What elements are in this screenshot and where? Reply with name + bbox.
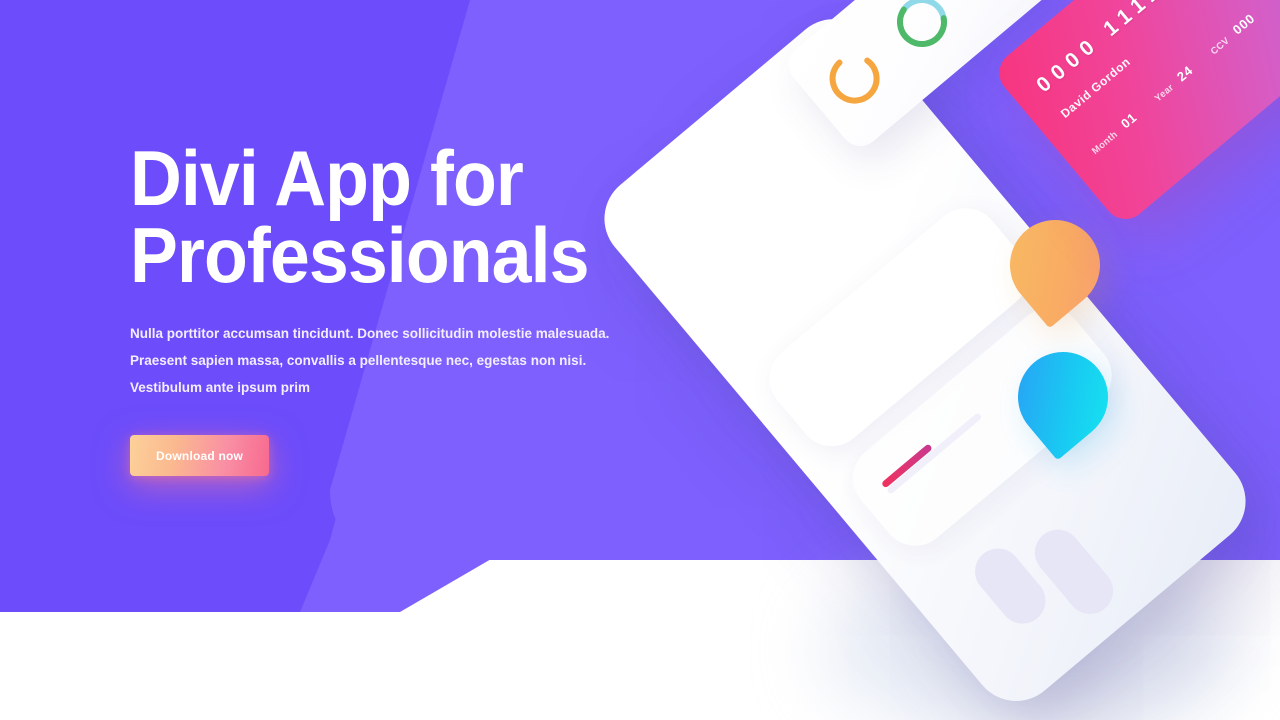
download-now-button[interactable]: Download now	[130, 435, 269, 476]
hero-content: Divi App for Professionals Nulla porttit…	[130, 140, 650, 476]
hero-section: Divi App for Professionals Nulla porttit…	[0, 0, 1280, 720]
credit-card-year-value: 24	[1174, 62, 1196, 84]
credit-card-month-value: 01	[1118, 109, 1140, 131]
credit-card-month-label: Month	[1090, 129, 1120, 157]
credit-card: 0000 1111 2222 3333 David Gordon Month 0…	[990, 0, 1280, 228]
page-title: Divi App for Professionals	[130, 140, 608, 294]
hero-subcopy: Nulla porttitor accumsan tincidunt. Done…	[130, 320, 630, 401]
credit-card-year: Year 24	[1150, 62, 1196, 104]
progress-ring-orange	[824, 48, 885, 109]
credit-card-ccv-label: CCV	[1209, 35, 1232, 57]
app-illustration: 0000 1111 2222 3333 David Gordon Month 0…	[640, 0, 1280, 720]
credit-card-year-label: Year	[1153, 82, 1176, 104]
credit-card-ccv: CCV 000	[1206, 11, 1258, 58]
credit-card-ccv-value: 000	[1230, 11, 1258, 38]
credit-card-month: Month 01	[1087, 109, 1139, 156]
